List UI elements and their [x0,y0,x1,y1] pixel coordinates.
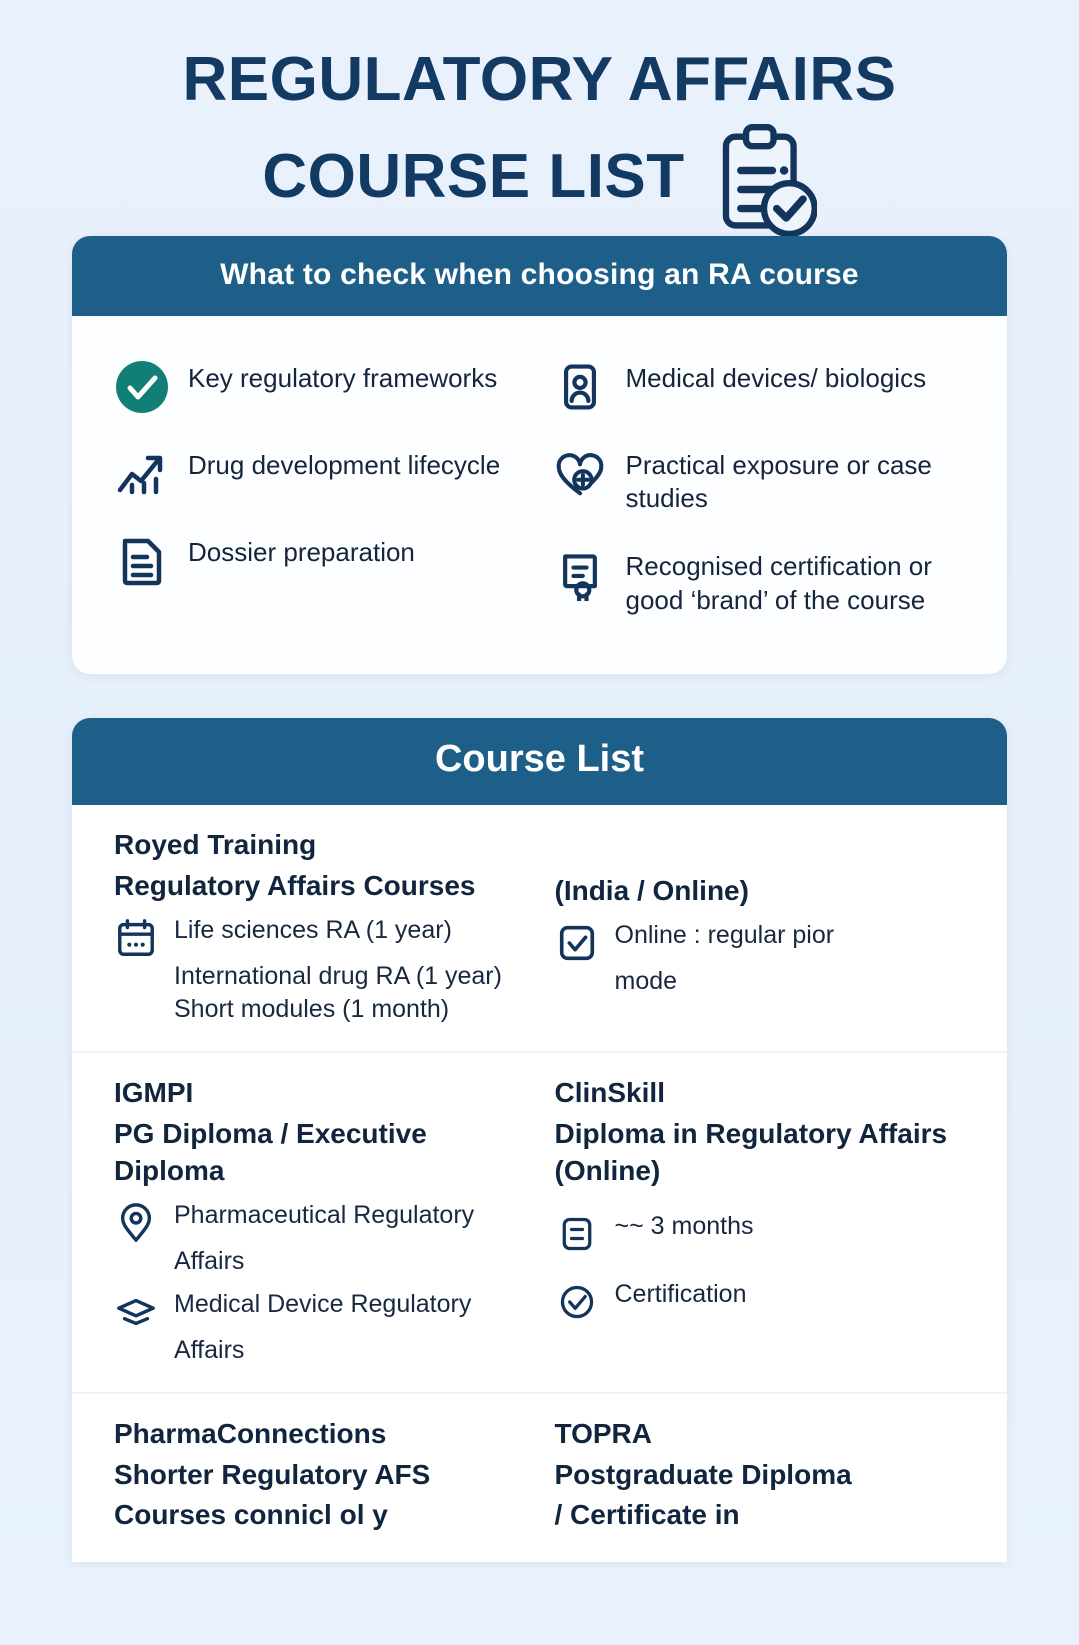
check-circle-outline-icon [555,1280,599,1324]
course-cell-right: (India / Online) Online : regular pior m… [555,827,966,1027]
list-item-label: Medical Device Regulatory [174,1288,471,1322]
list-item-label: Affairs [174,1245,525,1279]
check-item-label: Recognised certification or good ‘brand’… [626,547,966,618]
check-item: Medical devices/ biologics [552,350,966,437]
checklist-column-right: Medical devices/ biologics Practical exp… [552,350,966,640]
title-line-2: COURSE LIST [262,139,684,215]
infographic-page: REGULATORY AFFAIRS COURSE LIST What to c… [0,0,1079,1645]
course-program-name: Shorter Regulatory AFS [114,1457,525,1494]
course-cell-right: TOPRA Postgraduate Diploma / Certificate… [555,1416,966,1539]
course-list-body: Royed Training Regulatory Affairs Course… [72,805,1007,1563]
checkbox-checked-icon [555,921,599,965]
list-item-label: Short modules (1 month) [174,993,525,1027]
course-list-card: Course List Royed Training Regulatory Af… [72,718,1007,1563]
id-card-person-icon [552,359,608,415]
table-row: Royed Training Regulatory Affairs Course… [72,805,1007,1053]
list-item-label: International drug RA (1 year) [174,960,525,994]
list-item-label: mode [615,965,966,999]
course-cell-left: IGMPI PG Diploma / Executive Diploma Pha… [114,1075,525,1367]
course-program-name: Diploma in Regulatory Affairs (Online) [555,1116,966,1190]
course-provider-name: PharmaConnections [114,1416,525,1453]
document-icon [114,533,170,589]
course-provider-name: Royed Training [114,827,525,864]
check-item-label: Medical devices/ biologics [626,359,927,396]
checklist-card-header: What to check when choosing an RA course [72,236,1007,316]
list-item: Pharmaceutical Regulatory [114,1199,525,1245]
check-item-label: Key regulatory frameworks [188,359,497,396]
list-item-label: Pharmaceutical Regulatory [174,1199,474,1233]
check-item-label: Drug development lifecycle [188,446,500,483]
course-cell-left: PharmaConnections Shorter Regulatory AFS… [114,1416,525,1539]
checklist-card-body: Key regulatory frameworks [72,316,1007,674]
heart-plus-icon [552,446,608,502]
course-list-header: Course List [72,718,1007,805]
calendar-icon [114,916,158,960]
list-item: Life sciences RA (1 year) [114,914,525,960]
check-item: Practical exposure or case studies [552,437,966,539]
course-provider-name: TOPRA [555,1416,966,1453]
list-item-label: Certification [615,1278,747,1312]
page-title: REGULATORY AFFAIRS COURSE LIST [0,0,1079,236]
graduation-cap-icon [114,1290,158,1334]
course-program-name: Regulatory Affairs Courses [114,868,525,905]
course-location-label: (India / Online) [555,873,966,910]
table-row: IGMPI PG Diploma / Executive Diploma Pha… [72,1053,1007,1393]
course-cell-left: Royed Training Regulatory Affairs Course… [114,827,525,1027]
clipboard-check-icon [711,124,817,236]
list-item: ~~ 3 months [555,1210,966,1256]
checklist-column-left: Key regulatory frameworks [114,350,528,640]
check-circle-filled-icon [114,359,170,415]
course-program-name-cont: Courses connicl ol y [114,1497,525,1534]
course-program-name-cont: / Certificate in [555,1497,966,1534]
course-cell-right: ClinSkill Diploma in Regulatory Affairs … [555,1075,966,1367]
check-item-label: Dossier preparation [188,533,415,570]
list-item: Online : regular pior [555,919,966,965]
checklist-card: What to check when choosing an RA course… [72,236,1007,674]
course-program-name: PG Diploma / Executive Diploma [114,1116,525,1190]
course-provider-name: ClinSkill [555,1075,966,1112]
certificate-seal-icon [552,547,608,603]
list-item-label: Life sciences RA (1 year) [174,914,452,948]
check-item: Key regulatory frameworks [114,350,528,437]
check-item: Drug development lifecycle [114,437,528,524]
check-item-label: Practical exposure or case studies [626,446,966,517]
title-line-1: REGULATORY AFFAIRS [0,42,1079,118]
article-icon [555,1212,599,1256]
list-item-label: ~~ 3 months [615,1210,754,1244]
list-item: Medical Device Regulatory [114,1288,525,1334]
list-item-label: Online : regular pior [615,919,835,953]
course-program-name: Postgraduate Diploma [555,1457,966,1494]
course-provider-name: IGMPI [114,1075,525,1112]
growth-chart-icon [114,446,170,502]
check-item: Recognised certification or good ‘brand’… [552,538,966,640]
checklist-grid: Key regulatory frameworks [114,350,965,640]
list-item: Certification [555,1278,966,1324]
list-item-label: Affairs [174,1334,525,1368]
title-line-2-row: COURSE LIST [0,118,1079,236]
location-pin-icon [114,1201,158,1245]
table-row: PharmaConnections Shorter Regulatory AFS… [72,1394,1007,1563]
check-item: Dossier preparation [114,524,528,611]
